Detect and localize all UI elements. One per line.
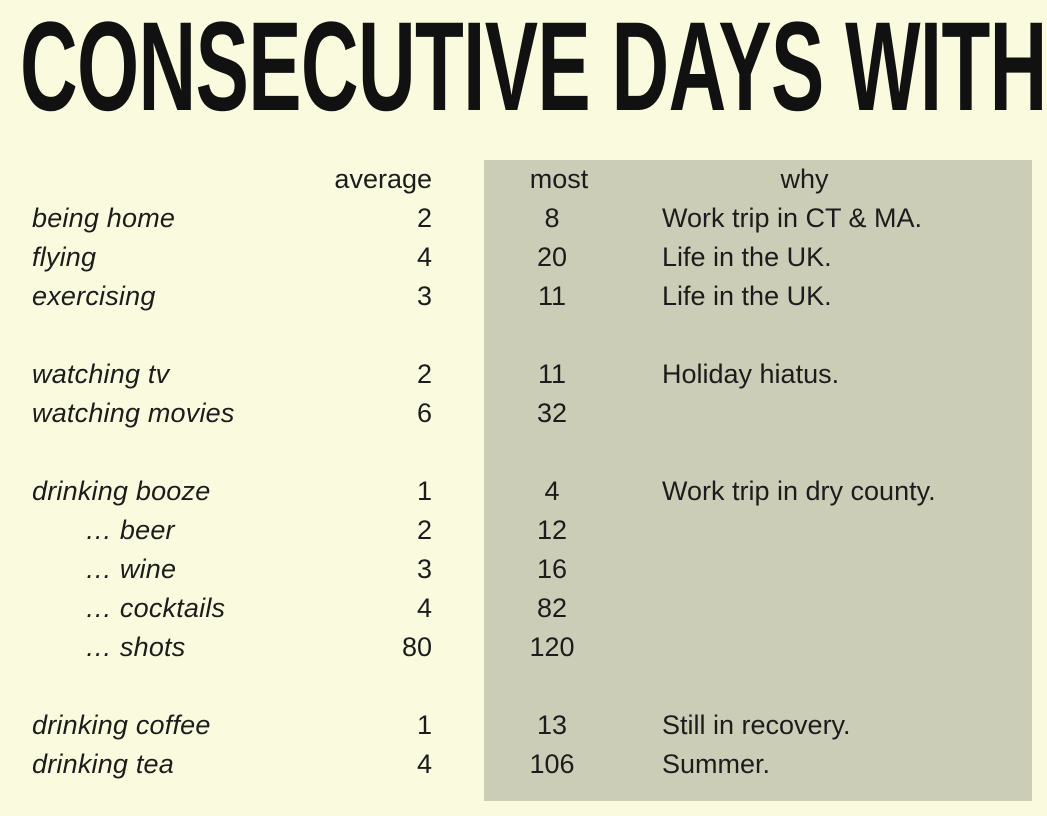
table-row: watching tv211Holiday hiatus. — [0, 355, 1047, 394]
cell-activity: flying — [0, 238, 300, 277]
cell-why — [634, 394, 1047, 433]
cell-activity: … wine — [0, 550, 300, 589]
cell-most: 16 — [484, 550, 634, 589]
spacer-cell — [0, 667, 1047, 706]
cell-why: Summer. — [634, 745, 1047, 784]
table-spacer-row — [0, 316, 1047, 355]
cell-why: Holiday hiatus. — [634, 355, 1047, 394]
cell-activity: exercising — [0, 277, 300, 316]
cell-average: 3 — [300, 550, 484, 589]
cell-why — [634, 628, 1047, 667]
cell-average: 4 — [300, 745, 484, 784]
cell-most: 11 — [484, 277, 634, 316]
cell-activity: … cocktails — [0, 589, 300, 628]
table-row: watching movies632 — [0, 394, 1047, 433]
cell-why: Still in recovery. — [634, 706, 1047, 745]
stats-table: average most why being home28Work trip i… — [0, 160, 1047, 784]
column-header-why: why — [634, 160, 1047, 199]
cell-activity: … beer — [0, 511, 300, 550]
cell-average: 4 — [300, 238, 484, 277]
column-header-most: most — [484, 160, 634, 199]
cell-most: 82 — [484, 589, 634, 628]
table-body: being home28Work trip in CT & MA.flying4… — [0, 199, 1047, 784]
cell-most: 20 — [484, 238, 634, 277]
table-row: exercising311Life in the UK. — [0, 277, 1047, 316]
cell-why: Life in the UK. — [634, 238, 1047, 277]
table-row: drinking coffee113Still in recovery. — [0, 706, 1047, 745]
cell-why — [634, 589, 1047, 628]
table-spacer-row — [0, 667, 1047, 706]
cell-activity: drinking coffee — [0, 706, 300, 745]
cell-activity: watching movies — [0, 394, 300, 433]
cell-average: 1 — [300, 706, 484, 745]
table-header: average most why — [0, 160, 1047, 199]
cell-most: 106 — [484, 745, 634, 784]
cell-activity: being home — [0, 199, 300, 238]
table-row: drinking tea4106Summer. — [0, 745, 1047, 784]
table-row: … cocktails482 — [0, 589, 1047, 628]
table-spacer-row — [0, 433, 1047, 472]
cell-why: Life in the UK. — [634, 277, 1047, 316]
cell-activity: watching tv — [0, 355, 300, 394]
cell-why — [634, 511, 1047, 550]
table-row: … shots80120 — [0, 628, 1047, 667]
table-row: drinking booze14Work trip in dry county. — [0, 472, 1047, 511]
page-title: CONSECUTIVE DAYS WITHOUT — [20, 8, 683, 124]
cell-average: 3 — [300, 277, 484, 316]
spacer-cell — [0, 316, 1047, 355]
cell-average: 2 — [300, 355, 484, 394]
table-row: being home28Work trip in CT & MA. — [0, 199, 1047, 238]
cell-activity: drinking booze — [0, 472, 300, 511]
cell-activity: drinking tea — [0, 745, 300, 784]
cell-average: 4 — [300, 589, 484, 628]
cell-most: 12 — [484, 511, 634, 550]
spacer-cell — [0, 433, 1047, 472]
cell-average: 1 — [300, 472, 484, 511]
table-row: flying420Life in the UK. — [0, 238, 1047, 277]
cell-average: 80 — [300, 628, 484, 667]
table-row: … wine316 — [0, 550, 1047, 589]
cell-most: 8 — [484, 199, 634, 238]
cell-why — [634, 550, 1047, 589]
cell-why: Work trip in dry county. — [634, 472, 1047, 511]
column-header-activity — [0, 160, 300, 199]
cell-most: 11 — [484, 355, 634, 394]
cell-average: 2 — [300, 511, 484, 550]
cell-most: 120 — [484, 628, 634, 667]
column-header-average: average — [300, 160, 484, 199]
cell-average: 6 — [300, 394, 484, 433]
table-row: … beer212 — [0, 511, 1047, 550]
cell-activity: … shots — [0, 628, 300, 667]
cell-most: 32 — [484, 394, 634, 433]
cell-most: 13 — [484, 706, 634, 745]
cell-average: 2 — [300, 199, 484, 238]
cell-most: 4 — [484, 472, 634, 511]
cell-why: Work trip in CT & MA. — [634, 199, 1047, 238]
table-header-row: average most why — [0, 160, 1047, 199]
